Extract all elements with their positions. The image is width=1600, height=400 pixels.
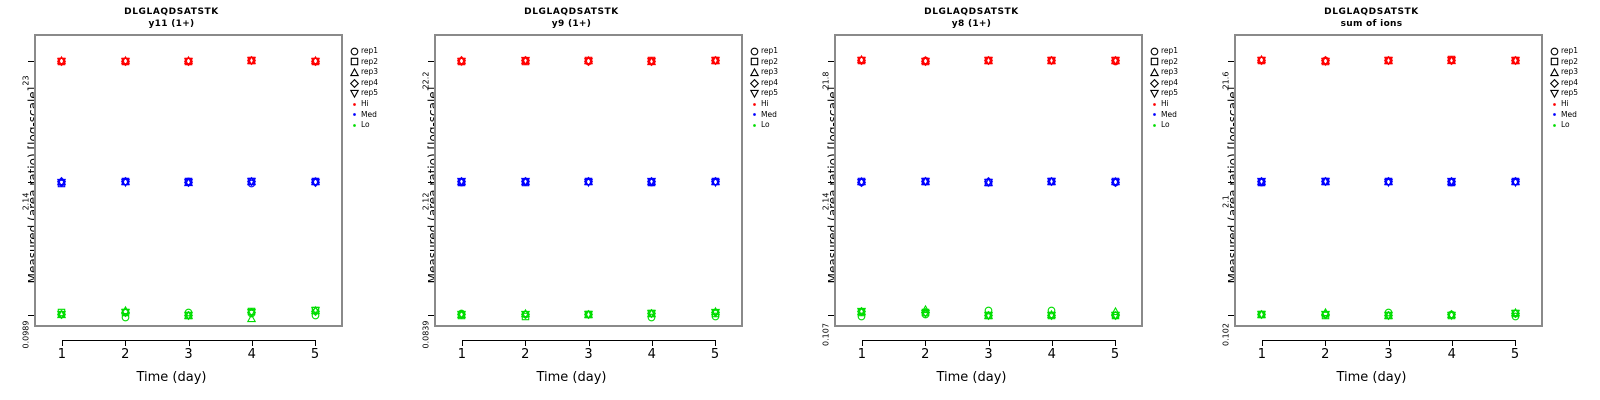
legend-label: rep1 xyxy=(1561,46,1578,57)
legend-label: Med xyxy=(1561,110,1577,121)
triangle-up-icon xyxy=(748,67,761,78)
dot-icon xyxy=(748,99,761,110)
plot-frame xyxy=(834,34,1143,327)
legend-item-rep3[interactable]: rep3 xyxy=(348,67,378,78)
x-tick-mark xyxy=(525,340,526,346)
legend-item-rep2[interactable]: rep2 xyxy=(748,57,778,68)
triangle-down-icon xyxy=(1548,88,1561,99)
chart-panel-4: DLGLAQDSATSTKsum of ionsMeasured (area r… xyxy=(1200,0,1600,400)
legend-item-rep4[interactable]: rep4 xyxy=(1548,78,1578,89)
x-tick-mark xyxy=(62,340,63,346)
legend: rep1rep2rep3rep4rep5HiMedLo xyxy=(1148,46,1178,131)
panel-main-title: DLGLAQDSATSTK xyxy=(800,6,1143,18)
legend-label: Lo xyxy=(761,120,770,131)
x-tick-mark xyxy=(189,340,190,346)
panel-title-block: DLGLAQDSATSTKy11 (1+) xyxy=(0,6,343,31)
x-tick-label: 4 xyxy=(1040,347,1064,362)
x-tick-label: 5 xyxy=(703,347,727,362)
x-tick-label: 5 xyxy=(1103,347,1127,362)
y-tick-label: 21.8 xyxy=(822,60,831,100)
legend-item-Lo[interactable]: Lo xyxy=(1148,120,1178,131)
legend-item-rep3[interactable]: rep3 xyxy=(1548,67,1578,78)
legend-label: rep3 xyxy=(761,67,778,78)
legend-item-rep1[interactable]: rep1 xyxy=(348,46,378,57)
legend-label: rep4 xyxy=(1161,78,1178,89)
legend-item-Med[interactable]: Med xyxy=(1548,110,1578,121)
y-tick-label: 2.12 xyxy=(422,181,431,221)
y-tick-label: 0.102 xyxy=(1222,314,1231,354)
x-tick-label: 2 xyxy=(1313,347,1337,362)
x-tick-label: 2 xyxy=(913,347,937,362)
diamond-icon xyxy=(348,78,361,89)
legend-item-Med[interactable]: Med xyxy=(1148,110,1178,121)
x-tick-mark xyxy=(1325,340,1326,346)
legend-item-Hi[interactable]: Hi xyxy=(1548,99,1578,110)
x-axis-title: Time (day) xyxy=(400,370,743,385)
plot-frame xyxy=(34,34,343,327)
legend-label: rep1 xyxy=(1161,46,1178,57)
diamond-icon xyxy=(748,78,761,89)
panel-title-block: DLGLAQDSATSTKy8 (1+) xyxy=(800,6,1143,31)
legend-label: Lo xyxy=(361,120,370,131)
y-tick-label: 23 xyxy=(22,60,31,100)
y-tick-label: 21.6 xyxy=(1222,60,1231,100)
x-tick-label: 1 xyxy=(850,347,874,362)
x-tick-label: 3 xyxy=(977,347,1001,362)
diamond-icon xyxy=(1548,78,1561,89)
legend-label: rep2 xyxy=(1161,57,1178,68)
panel-title-block: DLGLAQDSATSTKy9 (1+) xyxy=(400,6,743,31)
x-tick-label: 5 xyxy=(303,347,327,362)
x-tick-mark xyxy=(1115,340,1116,346)
square-icon xyxy=(1548,57,1561,68)
circle-icon xyxy=(348,46,361,57)
x-tick-label: 1 xyxy=(1250,347,1274,362)
dot-icon xyxy=(348,110,361,121)
legend-label: rep3 xyxy=(1561,67,1578,78)
triangle-down-icon xyxy=(1148,88,1161,99)
legend-label: Hi xyxy=(1561,99,1569,110)
circle-icon xyxy=(748,46,761,57)
x-tick-label: 4 xyxy=(240,347,264,362)
plot-frame xyxy=(1234,34,1543,327)
legend-label: Med xyxy=(1161,110,1177,121)
legend-label: rep5 xyxy=(1161,88,1178,99)
dot-icon xyxy=(1548,110,1561,121)
triangle-up-icon xyxy=(1548,67,1561,78)
panel-main-title: DLGLAQDSATSTK xyxy=(0,6,343,18)
legend-item-rep5[interactable]: rep5 xyxy=(748,88,778,99)
legend-item-Lo[interactable]: Lo xyxy=(1548,120,1578,131)
panel-sub-title: y8 (1+) xyxy=(800,18,1143,31)
dot-icon xyxy=(1148,110,1161,121)
panel-sub-title: y11 (1+) xyxy=(0,18,343,31)
legend-item-rep4[interactable]: rep4 xyxy=(348,78,378,89)
legend-label: rep2 xyxy=(761,57,778,68)
x-tick-mark xyxy=(925,340,926,346)
legend: rep1rep2rep3rep4rep5HiMedLo xyxy=(348,46,378,131)
x-tick-mark xyxy=(862,340,863,346)
y-tick-label: 0.107 xyxy=(822,314,831,354)
legend-item-rep1[interactable]: rep1 xyxy=(748,46,778,57)
legend-item-Lo[interactable]: Lo xyxy=(348,120,378,131)
legend-label: rep5 xyxy=(361,88,378,99)
legend-label: Med xyxy=(761,110,777,121)
legend-item-Hi[interactable]: Hi xyxy=(748,99,778,110)
x-tick-mark xyxy=(1262,340,1263,346)
dot-icon xyxy=(348,99,361,110)
panel-main-title: DLGLAQDSATSTK xyxy=(1200,6,1543,18)
x-axis-title: Time (day) xyxy=(1200,370,1543,385)
x-tick-mark xyxy=(315,340,316,346)
legend-item-rep5[interactable]: rep5 xyxy=(348,88,378,99)
legend-label: rep4 xyxy=(361,78,378,89)
square-icon xyxy=(748,57,761,68)
y-tick-label: 0.0839 xyxy=(422,314,431,354)
dot-icon xyxy=(1548,120,1561,131)
x-tick-label: 3 xyxy=(177,347,201,362)
legend-label: Lo xyxy=(1561,120,1570,131)
x-tick-mark xyxy=(1052,340,1053,346)
legend-item-rep4[interactable]: rep4 xyxy=(748,78,778,89)
legend-item-rep3[interactable]: rep3 xyxy=(1148,67,1178,78)
legend-item-Med[interactable]: Med xyxy=(748,110,778,121)
triangle-up-icon xyxy=(348,67,361,78)
x-tick-mark xyxy=(1452,340,1453,346)
x-tick-mark xyxy=(715,340,716,346)
y-tick-label: 2.14 xyxy=(22,181,31,221)
panel-main-title: DLGLAQDSATSTK xyxy=(400,6,743,18)
legend-label: rep2 xyxy=(1561,57,1578,68)
legend-label: rep1 xyxy=(761,46,778,57)
panel-sub-title: sum of ions xyxy=(1200,18,1543,31)
dot-icon xyxy=(1148,120,1161,131)
dot-icon xyxy=(1148,99,1161,110)
dot-icon xyxy=(1548,99,1561,110)
legend-label: Med xyxy=(361,110,377,121)
diamond-icon xyxy=(1148,78,1161,89)
legend-label: Hi xyxy=(361,99,369,110)
legend-item-rep5[interactable]: rep5 xyxy=(1548,88,1578,99)
plot-frame xyxy=(434,34,743,327)
dot-icon xyxy=(348,120,361,131)
y-tick-label: 2.1 xyxy=(1222,181,1231,221)
x-tick-mark xyxy=(1515,340,1516,346)
x-tick-label: 3 xyxy=(1377,347,1401,362)
y-tick-label: 22.2 xyxy=(422,60,431,100)
panel-sub-title: y9 (1+) xyxy=(400,18,743,31)
x-tick-mark xyxy=(125,340,126,346)
legend-label: rep4 xyxy=(761,78,778,89)
panel-title-block: DLGLAQDSATSTKsum of ions xyxy=(1200,6,1543,31)
x-axis-title: Time (day) xyxy=(0,370,343,385)
x-tick-mark xyxy=(989,340,990,346)
legend-label: rep4 xyxy=(1561,78,1578,89)
x-tick-mark xyxy=(1389,340,1390,346)
x-tick-label: 4 xyxy=(1440,347,1464,362)
legend-item-rep2[interactable]: rep2 xyxy=(1548,57,1578,68)
legend-label: Hi xyxy=(1161,99,1169,110)
legend-item-Hi[interactable]: Hi xyxy=(1148,99,1178,110)
chart-panel-2: DLGLAQDSATSTKy9 (1+)Measured (area ratio… xyxy=(400,0,800,400)
legend-label: rep5 xyxy=(1561,88,1578,99)
legend: rep1rep2rep3rep4rep5HiMedLo xyxy=(748,46,778,131)
x-tick-mark xyxy=(652,340,653,346)
x-tick-mark xyxy=(252,340,253,346)
triangle-down-icon xyxy=(348,88,361,99)
x-tick-label: 5 xyxy=(1503,347,1527,362)
multi-panel-scatter-figure: DLGLAQDSATSTKy11 (1+)Measured (area rati… xyxy=(0,0,1600,400)
x-tick-label: 4 xyxy=(640,347,664,362)
legend-item-Med[interactable]: Med xyxy=(348,110,378,121)
dot-icon xyxy=(748,110,761,121)
x-tick-label: 3 xyxy=(577,347,601,362)
x-tick-label: 1 xyxy=(450,347,474,362)
x-tick-mark xyxy=(589,340,590,346)
legend-item-rep2[interactable]: rep2 xyxy=(348,57,378,68)
chart-panel-1: DLGLAQDSATSTKy11 (1+)Measured (area rati… xyxy=(0,0,400,400)
legend-item-Lo[interactable]: Lo xyxy=(748,120,778,131)
legend-label: Lo xyxy=(1161,120,1170,131)
legend-item-rep1[interactable]: rep1 xyxy=(1548,46,1578,57)
legend-item-rep5[interactable]: rep5 xyxy=(1148,88,1178,99)
legend-item-rep2[interactable]: rep2 xyxy=(1148,57,1178,68)
square-icon xyxy=(348,57,361,68)
triangle-down-icon xyxy=(748,88,761,99)
y-tick-label: 0.0989 xyxy=(22,314,31,354)
x-tick-label: 1 xyxy=(50,347,74,362)
y-tick-label: 2.14 xyxy=(822,181,831,221)
x-axis-title: Time (day) xyxy=(800,370,1143,385)
legend-item-rep1[interactable]: rep1 xyxy=(1148,46,1178,57)
dot-icon xyxy=(748,120,761,131)
legend-label: rep2 xyxy=(361,57,378,68)
circle-icon xyxy=(1548,46,1561,57)
x-tick-mark xyxy=(462,340,463,346)
legend-item-rep3[interactable]: rep3 xyxy=(748,67,778,78)
chart-panel-3: DLGLAQDSATSTKy8 (1+)Measured (area ratio… xyxy=(800,0,1200,400)
legend-item-Hi[interactable]: Hi xyxy=(348,99,378,110)
x-tick-label: 2 xyxy=(113,347,137,362)
legend-label: rep1 xyxy=(361,46,378,57)
legend-item-rep4[interactable]: rep4 xyxy=(1148,78,1178,89)
legend-label: rep5 xyxy=(761,88,778,99)
triangle-up-icon xyxy=(1148,67,1161,78)
legend-label: rep3 xyxy=(1161,67,1178,78)
legend-label: Hi xyxy=(761,99,769,110)
circle-icon xyxy=(1148,46,1161,57)
x-tick-label: 2 xyxy=(513,347,537,362)
legend: rep1rep2rep3rep4rep5HiMedLo xyxy=(1548,46,1578,131)
square-icon xyxy=(1148,57,1161,68)
legend-label: rep3 xyxy=(361,67,378,78)
